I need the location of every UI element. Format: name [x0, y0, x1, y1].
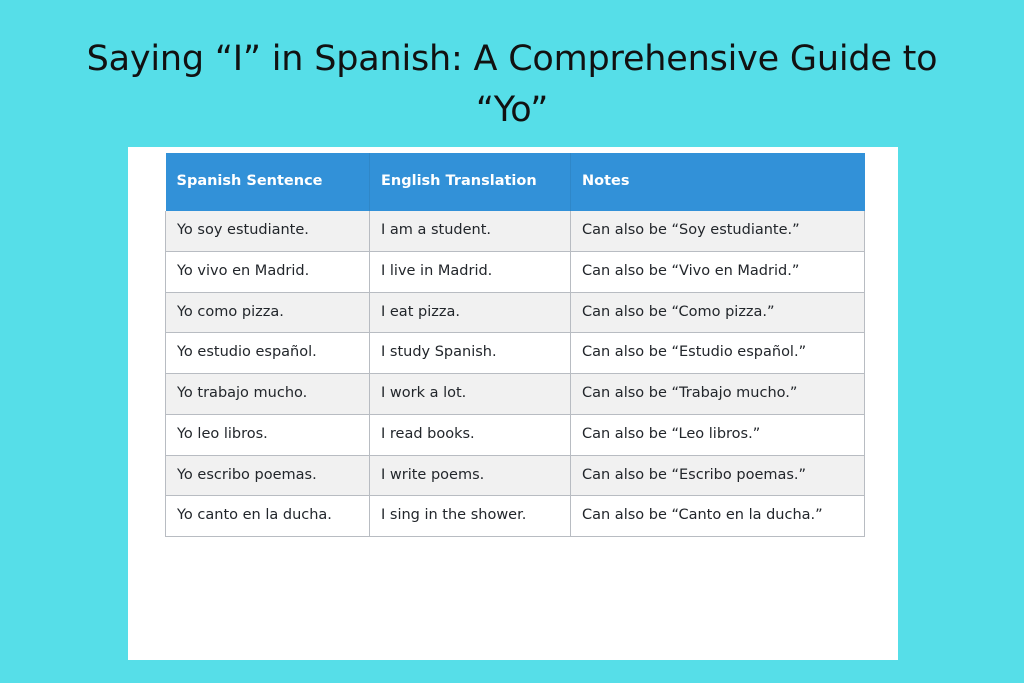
column-header-spanish-sentence: Spanish Sentence	[166, 153, 370, 211]
spanish-sentences-table: Spanish Sentence English Translation Not…	[165, 153, 865, 537]
cell-spanish: Yo canto en la ducha.	[166, 496, 370, 537]
cell-notes: Can also be “Como pizza.”	[571, 292, 865, 333]
cell-notes: Can also be “Leo libros.”	[571, 414, 865, 455]
table-row: Yo como pizza. I eat pizza. Can also be …	[166, 292, 865, 333]
column-header-notes: Notes	[571, 153, 865, 211]
cell-spanish: Yo leo libros.	[166, 414, 370, 455]
table-header: Spanish Sentence English Translation Not…	[166, 153, 865, 211]
table-row: Yo leo libros. I read books. Can also be…	[166, 414, 865, 455]
table-row: Yo soy estudiante. I am a student. Can a…	[166, 211, 865, 251]
cell-notes: Can also be “Soy estudiante.”	[571, 211, 865, 251]
table-header-row: Spanish Sentence English Translation Not…	[166, 153, 865, 211]
cell-notes: Can also be “Trabajo mucho.”	[571, 374, 865, 415]
cell-spanish: Yo vivo en Madrid.	[166, 251, 370, 292]
table-row: Yo vivo en Madrid. I live in Madrid. Can…	[166, 251, 865, 292]
cell-english: I eat pizza.	[370, 292, 571, 333]
cell-english: I read books.	[370, 414, 571, 455]
table-row: Yo escribo poemas. I write poems. Can al…	[166, 455, 865, 496]
cell-notes: Can also be “Vivo en Madrid.”	[571, 251, 865, 292]
cell-english: I study Spanish.	[370, 333, 571, 374]
cell-spanish: Yo escribo poemas.	[166, 455, 370, 496]
table-body: Yo soy estudiante. I am a student. Can a…	[166, 211, 865, 537]
cell-notes: Can also be “Canto en la ducha.”	[571, 496, 865, 537]
table-row: Yo estudio español. I study Spanish. Can…	[166, 333, 865, 374]
page-root: Saying “I” in Spanish: A Comprehensive G…	[0, 0, 1024, 683]
title-block: Saying “I” in Spanish: A Comprehensive G…	[0, 34, 1024, 136]
cell-spanish: Yo soy estudiante.	[166, 211, 370, 251]
table-row: Yo canto en la ducha. I sing in the show…	[166, 496, 865, 537]
cell-spanish: Yo como pizza.	[166, 292, 370, 333]
cell-spanish: Yo trabajo mucho.	[166, 374, 370, 415]
cell-notes: Can also be “Estudio español.”	[571, 333, 865, 374]
table-row: Yo trabajo mucho. I work a lot. Can also…	[166, 374, 865, 415]
cell-english: I am a student.	[370, 211, 571, 251]
cell-english: I write poems.	[370, 455, 571, 496]
cell-english: I live in Madrid.	[370, 251, 571, 292]
cell-english: I sing in the shower.	[370, 496, 571, 537]
cell-spanish: Yo estudio español.	[166, 333, 370, 374]
content-card: Spanish Sentence English Translation Not…	[128, 147, 898, 660]
column-header-english-translation: English Translation	[370, 153, 571, 211]
cell-notes: Can also be “Escribo poemas.”	[571, 455, 865, 496]
page-title: Saying “I” in Spanish: A Comprehensive G…	[0, 34, 1024, 136]
cell-english: I work a lot.	[370, 374, 571, 415]
